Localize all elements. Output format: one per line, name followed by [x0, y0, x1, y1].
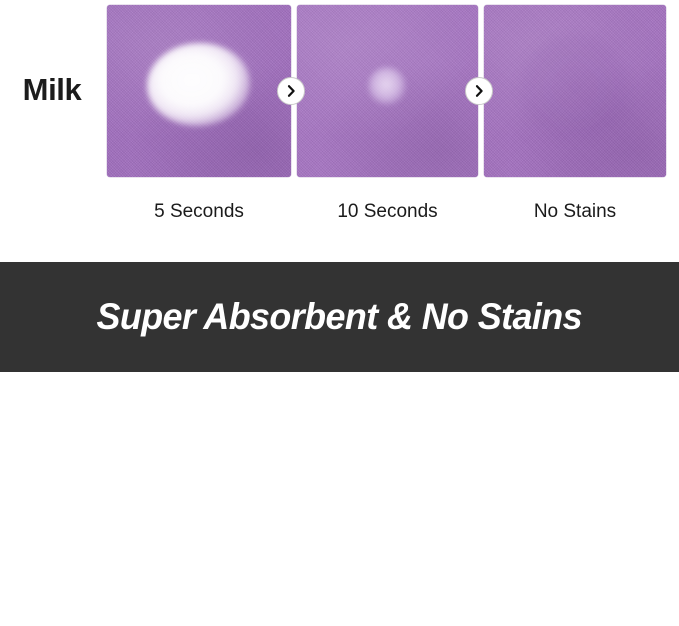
- caption-milk-no-stains: No Stains: [484, 202, 666, 221]
- caption-milk-10-seconds: 10 Seconds: [297, 202, 478, 221]
- headline-banner: Super Absorbent & No Stains: [0, 262, 679, 372]
- absorbency-infographic: Milk 5 Seconds 10 Secon: [0, 0, 679, 626]
- demo-row-water: Water 5 Seconds: [0, 390, 679, 626]
- substance-label-milk: Milk: [0, 74, 104, 105]
- absorbed-ghost-mark: [520, 34, 629, 141]
- chevron-right-icon: [465, 77, 493, 105]
- headline-text: Super Absorbent & No Stains: [97, 296, 582, 338]
- swatch-milk-5-seconds: [107, 5, 291, 177]
- demo-row-milk: Milk 5 Seconds 10 Secon: [0, 0, 679, 240]
- swatch-milk-no-stains: [484, 5, 666, 177]
- chevron-right-icon: [277, 77, 305, 105]
- swatch-milk-10-seconds: [297, 5, 478, 177]
- milk-residue-mark: [368, 67, 406, 105]
- caption-milk-5-seconds: 5 Seconds: [107, 202, 291, 221]
